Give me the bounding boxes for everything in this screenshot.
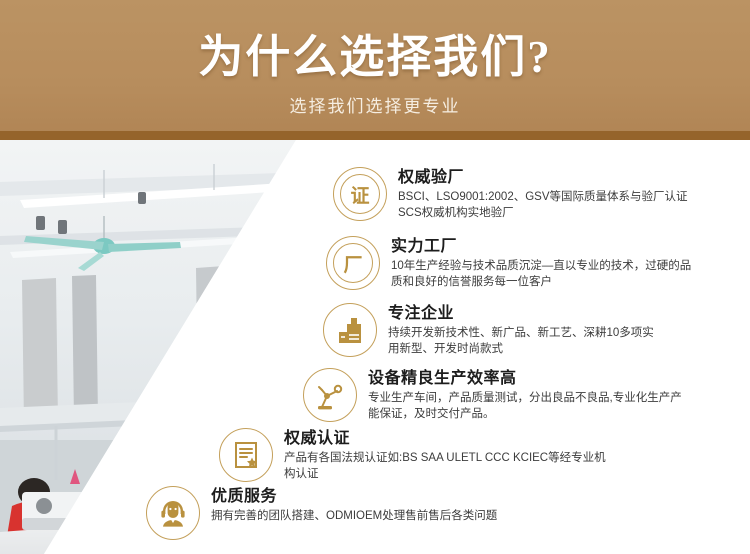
feature-desc-line: 构认证 [284, 467, 606, 483]
why-choose-us-page: 为什么选择我们? 选择我们选择更专业 [0, 0, 750, 554]
feature-item-certification-audit[interactable]: 证 权威验厂 BSCI、LSO9001:2002、GSV等国际质量体系与验厂认证… [333, 167, 688, 221]
feature-description: BSCI、LSO9001:2002、GSV等国际质量体系与验厂认证 SCS权威机… [398, 190, 688, 221]
feature-text: 实力工厂 10年生产经验与技术品质沉淀—直以专业的技术，过硬的品 质和良好的信誉… [391, 236, 691, 290]
feature-title: 专注企业 [388, 304, 654, 324]
feature-item-quality-service[interactable]: 优质服务 拥有完善的团队搭建、ODMIOEM处理售前售后各类问题 [146, 486, 497, 540]
feature-text: 权威认证 产品有各国法规认证如:BS SAA ULETL CCC KCIEC等经… [284, 428, 606, 482]
feature-icon-glyph: 厂 [333, 243, 373, 283]
feature-title: 权威认证 [284, 429, 606, 449]
feature-desc-line: 10年生产经验与技术品质沉淀—直以专业的技术，过硬的品 [391, 259, 691, 275]
headset-agent-icon [146, 486, 200, 540]
feature-text: 专注企业 持续开发新技术性、新广品、新工艺、深耕10多项实 用新型、开发时尚款式 [388, 303, 654, 357]
feature-desc-line: SCS权威机构实地验厂 [398, 206, 688, 222]
feature-desc-line: 能保证，及时交付产品。 [368, 407, 682, 423]
feature-description: 10年生产经验与技术品质沉淀—直以专业的技术，过硬的品 质和良好的信誉服务每一位… [391, 259, 691, 290]
feature-item-focused-enterprise[interactable]: 专注企业 持续开发新技术性、新广品、新工艺、深耕10多项实 用新型、开发时尚款式 [323, 303, 654, 357]
factory-glyph-circle-icon: 厂 [326, 236, 380, 290]
page-subtitle: 选择我们选择更专业 [0, 92, 750, 117]
feature-icon-glyph: 证 [340, 174, 380, 214]
header-banner: 为什么选择我们? 选择我们选择更专业 [0, 0, 750, 140]
feature-desc-line: 持续开发新技术性、新广品、新工艺、深耕10多项实 [388, 326, 654, 342]
robot-arm-icon [303, 368, 357, 422]
feature-list: 证 权威验厂 BSCI、LSO9001:2002、GSV等国际质量体系与验厂认证… [0, 140, 750, 554]
feature-desc-line: 质和良好的信誉服务每一位客户 [391, 275, 691, 291]
feature-description: 产品有各国法规认证如:BS SAA ULETL CCC KCIEC等经专业机 构… [284, 451, 606, 482]
feature-text: 优质服务 拥有完善的团队搭建、ODMIOEM处理售前售后各类问题 [211, 486, 497, 525]
feature-desc-line: 产品有各国法规认证如:BS SAA ULETL CCC KCIEC等经专业机 [284, 451, 606, 467]
feature-text: 设备精良生产效率高 专业生产车间，产品质量测试，分出良品不良品,专业化生产产 能… [368, 368, 682, 422]
feature-desc-line: 用新型、开发时尚款式 [388, 342, 654, 358]
feature-title: 优质服务 [211, 487, 497, 507]
feature-item-strong-factory[interactable]: 厂 实力工厂 10年生产经验与技术品质沉淀—直以专业的技术，过硬的品 质和良好的… [326, 236, 691, 290]
feature-item-advanced-equipment[interactable]: 设备精良生产效率高 专业生产车间，产品质量测试，分出良品不良品,专业化生产产 能… [303, 368, 682, 422]
feature-desc-line: 专业生产车间，产品质量测试，分出良品不良品,专业化生产产 [368, 391, 682, 407]
feature-title: 实力工厂 [391, 237, 691, 257]
feature-item-authoritative-certification[interactable]: 权威认证 产品有各国法规认证如:BS SAA ULETL CCC KCIEC等经… [219, 428, 606, 482]
banner-underline-bar [0, 131, 750, 140]
page-title: 为什么选择我们? [0, 20, 750, 85]
feature-title: 权威验厂 [398, 168, 688, 188]
feature-text: 权威验厂 BSCI、LSO9001:2002、GSV等国际质量体系与验厂认证 S… [398, 167, 688, 221]
feature-desc-line: BSCI、LSO9001:2002、GSV等国际质量体系与验厂认证 [398, 190, 688, 206]
feature-title: 设备精良生产效率高 [368, 369, 682, 389]
feature-description: 拥有完善的团队搭建、ODMIOEM处理售前售后各类问题 [211, 509, 497, 525]
certificate-seal-circle-icon: 证 [333, 167, 387, 221]
feature-description: 持续开发新技术性、新广品、新工艺、深耕10多项实 用新型、开发时尚款式 [388, 326, 654, 357]
feature-desc-line: 拥有完善的团队搭建、ODMIOEM处理售前售后各类问题 [211, 509, 497, 525]
factory-building-icon [323, 303, 377, 357]
certificate-document-icon [219, 428, 273, 482]
feature-description: 专业生产车间，产品质量测试，分出良品不良品,专业化生产产 能保证，及时交付产品。 [368, 391, 682, 422]
